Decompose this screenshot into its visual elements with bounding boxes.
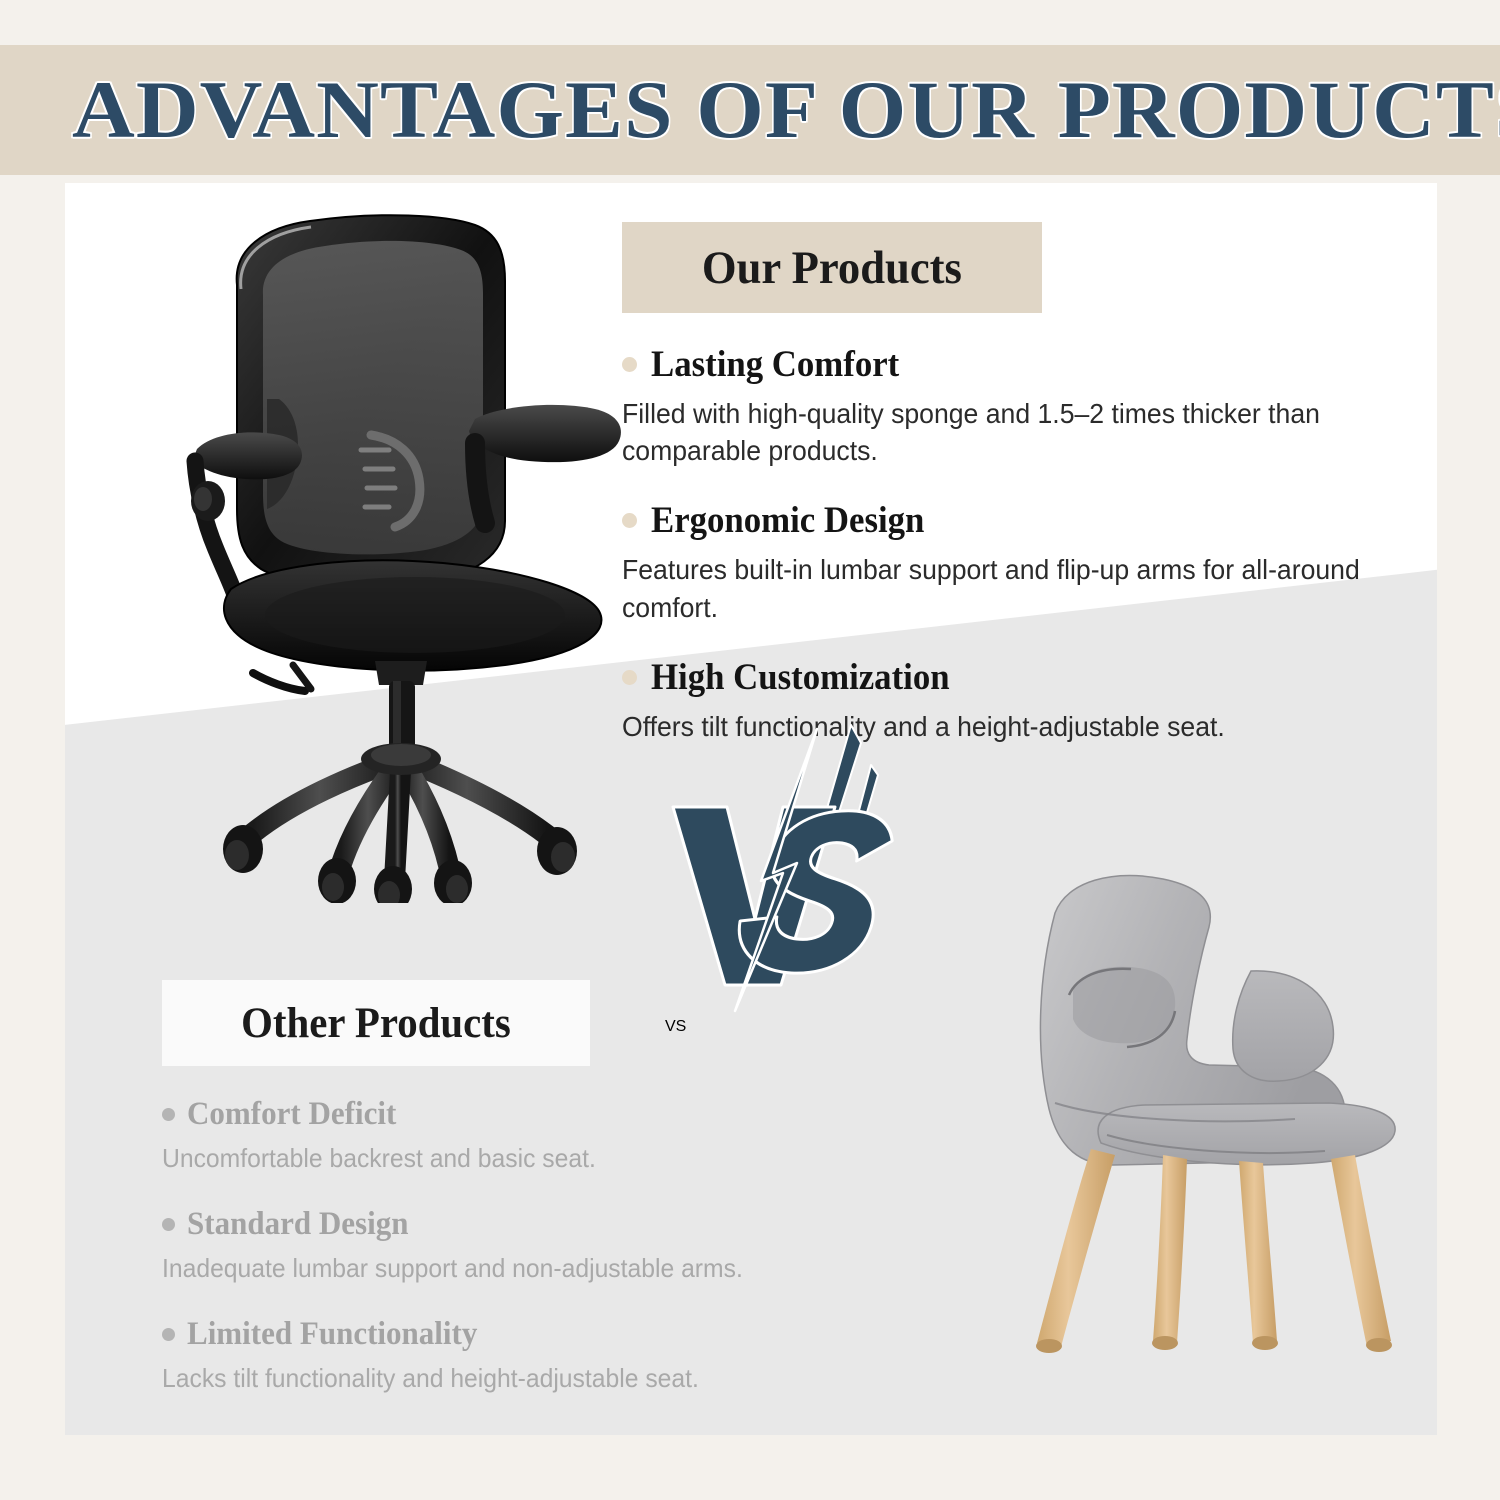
our-product-item-title-row: Lasting Comfort [622,343,1412,386]
other-product-item: Comfort Deficit Uncomfortable backrest a… [162,1096,962,1176]
other-product-item-title: Comfort Deficit [187,1096,396,1133]
our-product-item-title: Lasting Comfort [651,343,899,386]
other-product-item-title-row: Limited Functionality [162,1316,962,1353]
our-product-item-title-row: High Customization [622,656,1412,699]
other-product-item: Limited Functionality Lacks tilt functio… [162,1316,962,1396]
other-product-item-title-row: Standard Design [162,1206,962,1243]
our-product-item-title: High Customization [651,656,950,699]
other-products-heading-box: Other Products [162,980,590,1066]
our-product-item-title: Ergonomic Design [651,499,924,542]
page-title: ADVANTAGES OF OUR PRODUCTS [72,63,1500,157]
our-product-item-description: Features built-in lumbar support and fli… [622,551,1373,625]
other-product-item-title: Standard Design [187,1206,409,1243]
other-products-section: Other Products Comfort Deficit Uncomfort… [162,980,962,1395]
bullet-dot-icon [622,357,637,372]
other-product-item-description: Lacks tilt functionality and height-adju… [162,1362,922,1396]
our-product-item-title-row: Ergonomic Design [622,499,1412,542]
other-product-item-description: Inadequate lumbar support and non-adjust… [162,1252,922,1286]
other-product-item-title: Limited Functionality [187,1316,477,1353]
other-product-item-title-row: Comfort Deficit [162,1096,962,1133]
our-product-item: Lasting Comfort Filled with high-quality… [622,343,1412,469]
our-products-heading-box: Our Products [622,222,1042,313]
bullet-dot-icon [162,1328,175,1341]
office-chair-image [175,203,645,903]
bullet-dot-icon [622,670,637,685]
our-product-item-description: Filled with high-quality sponge and 1.5–… [622,395,1373,469]
bullet-dot-icon [622,513,637,528]
other-products-heading: Other Products [241,999,511,1048]
dining-chair-image [995,843,1415,1373]
content-panel: Our Products Lasting Comfort Filled with… [65,183,1437,1435]
bullet-dot-icon [162,1108,175,1121]
other-product-item: Standard Design Inadequate lumbar suppor… [162,1206,962,1286]
our-products-heading: Our Products [702,241,962,295]
our-product-item: Ergonomic Design Features built-in lumba… [622,499,1412,625]
other-product-item-description: Uncomfortable backrest and basic seat. [162,1142,922,1176]
versus-badge: VS [665,723,925,1013]
title-banner: ADVANTAGES OF OUR PRODUCTS [0,45,1500,175]
our-products-section: Our Products Lasting Comfort Filled with… [622,222,1412,745]
bullet-dot-icon [162,1218,175,1231]
